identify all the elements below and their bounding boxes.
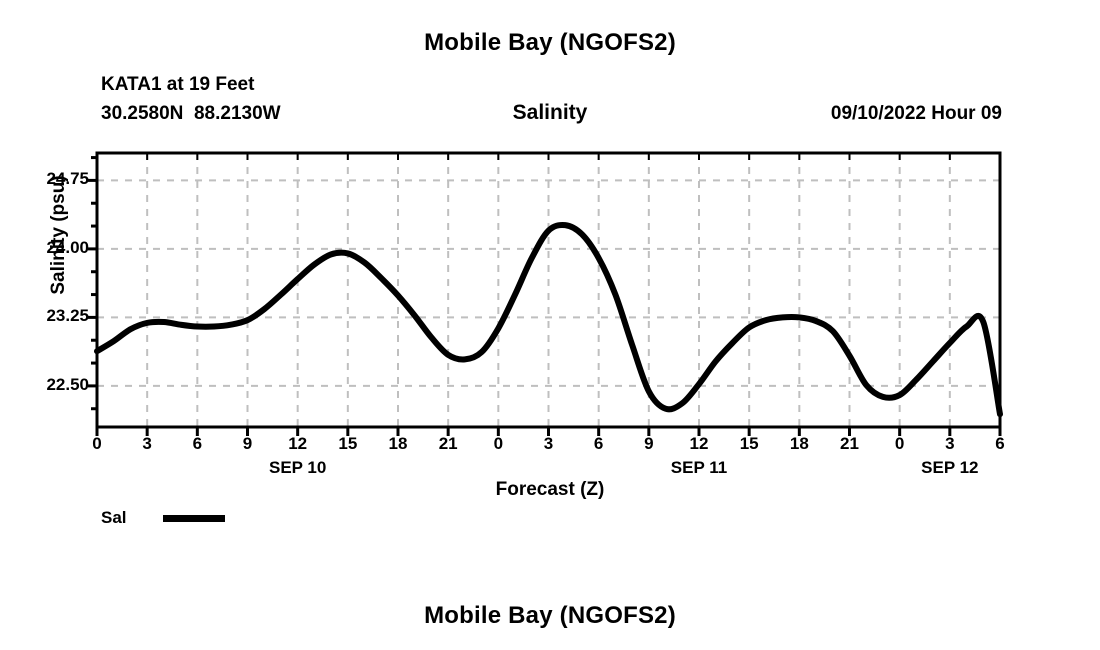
- x-tick-label: 0: [478, 434, 518, 454]
- x-tick-label: 21: [830, 434, 870, 454]
- x-tick-label: 18: [378, 434, 418, 454]
- x-tick-label: 12: [278, 434, 318, 454]
- x-tick-label: 9: [629, 434, 669, 454]
- x-tick-label: 21: [428, 434, 468, 454]
- x-tick-label: 3: [127, 434, 167, 454]
- x-tick-label: 9: [228, 434, 268, 454]
- axis-ticks: [88, 153, 1000, 436]
- x-tick-label: 18: [779, 434, 819, 454]
- x-tick-label: 3: [930, 434, 970, 454]
- y-tick-label: 22.50: [7, 375, 89, 395]
- x-tick-label: 12: [679, 434, 719, 454]
- x-tick-label: 0: [77, 434, 117, 454]
- chart-page: Mobile Bay (NGOFS2) KATA1 at 19 Feet 30.…: [0, 0, 1100, 650]
- x-tick-label: 0: [880, 434, 920, 454]
- x-axis-day-label: SEP 10: [228, 458, 368, 478]
- x-tick-label: 6: [177, 434, 217, 454]
- x-tick-label: 15: [328, 434, 368, 454]
- x-tick-label: 6: [579, 434, 619, 454]
- x-axis-label: Forecast (Z): [0, 479, 1100, 501]
- plot-area: Salinity (psu) Forecast (Z) 24.7524.0023…: [0, 0, 1100, 650]
- page-title-bottom: Mobile Bay (NGOFS2): [0, 602, 1100, 630]
- x-axis-day-label: SEP 11: [629, 458, 769, 478]
- y-tick-label: 24.00: [7, 238, 89, 258]
- y-tick-label: 23.25: [7, 306, 89, 326]
- y-tick-label: 24.75: [7, 169, 89, 189]
- chart-canvas: [0, 0, 1100, 650]
- y-axis-label: Salinity (psu): [48, 135, 70, 335]
- legend-swatch-sal: [163, 515, 225, 522]
- x-tick-label: 6: [980, 434, 1020, 454]
- x-tick-label: 15: [729, 434, 769, 454]
- legend-label-sal: Sal: [101, 508, 157, 528]
- x-axis-day-label: SEP 12: [880, 458, 1020, 478]
- legend: Sal: [101, 508, 225, 528]
- x-tick-label: 3: [529, 434, 569, 454]
